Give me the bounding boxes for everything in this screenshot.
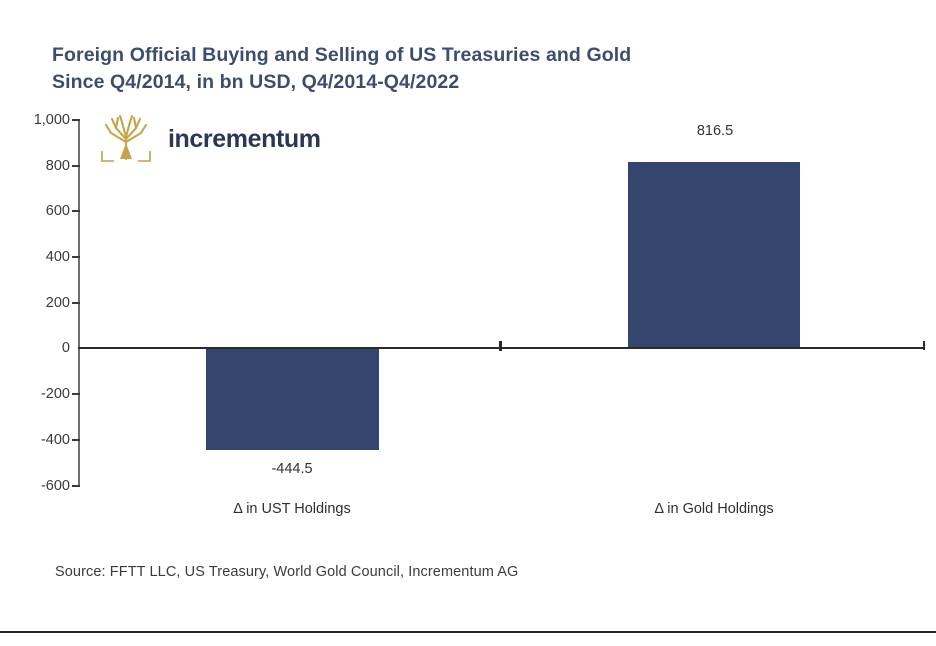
axis-end-tick [923,341,925,350]
y-axis-tick-label: -400 [8,432,70,448]
plot-area: 1,0008006004002000-200-400-600 -444.5 81… [0,0,936,646]
y-axis-tick-label: 600 [8,203,70,219]
y-axis-tick-label: 0 [8,340,70,356]
bar-ust-holdings[interactable] [206,348,379,450]
bar-value-ust: -444.5 [232,461,352,477]
y-axis-tick [72,302,80,304]
bottom-divider [0,631,936,633]
y-axis-tick-label: -200 [8,386,70,402]
y-axis-tick [72,485,80,487]
y-axis-tick-label: -600 [8,478,70,494]
y-axis-tick [72,256,80,258]
bar-gold-holdings[interactable] [628,162,800,349]
category-divider-tick [499,341,502,351]
y-axis-tick-label: 800 [8,158,70,174]
source-note: Source: FFTT LLC, US Treasury, World Gol… [55,564,518,580]
category-label-gold: Δ in Gold Holdings [634,501,794,517]
y-axis-tick [72,439,80,441]
y-axis-tick [72,119,80,121]
category-label-ust: Δ in UST Holdings [212,501,372,517]
y-axis-tick [72,165,80,167]
y-axis-tick [72,393,80,395]
chart-canvas: Foreign Official Buying and Selling of U… [0,0,936,646]
bar-value-gold: 816.5 [655,123,775,139]
y-axis-tick-label: 400 [8,249,70,265]
y-axis-tick-label: 200 [8,295,70,311]
y-axis-tick-label: 1,000 [8,112,70,128]
y-axis-tick [72,210,80,212]
